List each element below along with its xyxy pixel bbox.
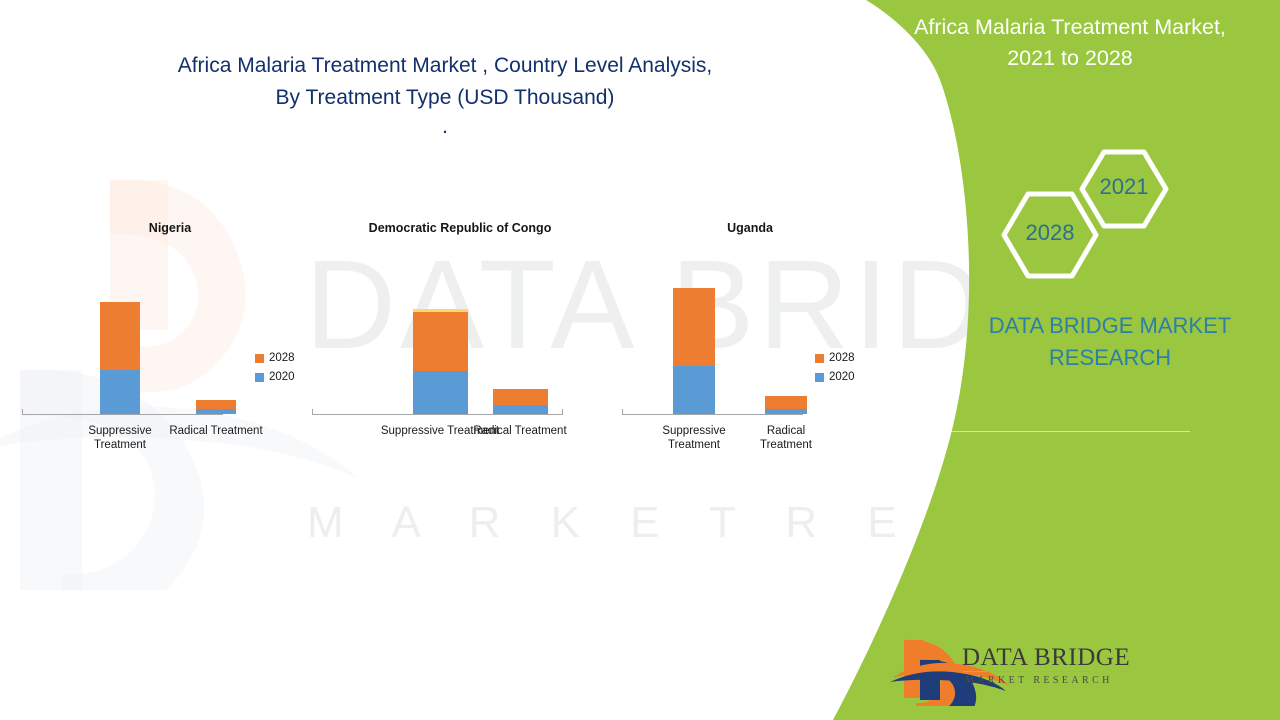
legend-label: 2020 — [269, 369, 295, 386]
bar-column — [196, 400, 236, 414]
bar-segment-2028 — [673, 288, 715, 367]
bar-segment-2028 — [493, 389, 548, 405]
plot-area: Suppressive TreatmentRadical Treatment — [310, 250, 610, 445]
category-label: Suppressive Treatment — [70, 424, 170, 452]
bar-segment-2020 — [765, 409, 807, 414]
bar-segment-2028 — [765, 396, 807, 409]
chart-panel-uganda: Uganda Suppressive TreatmentRadical Trea… — [600, 220, 900, 445]
panel-title-line2: 2021 to 2028 — [880, 43, 1260, 74]
bar-column — [673, 288, 715, 414]
logo-wordmark: DATA BRIDGE — [962, 644, 1130, 672]
chart-title: Democratic Republic of Congo — [340, 220, 580, 236]
panel-title: Africa Malaria Treatment Market, 2021 to… — [880, 12, 1260, 74]
chart-title: Uganda — [600, 220, 900, 236]
legend-label: 2020 — [829, 369, 855, 386]
bar-segment-2020 — [673, 366, 715, 414]
bar-segment-2020 — [413, 371, 468, 414]
logo-subwordmark: MARKET RESEARCH — [965, 675, 1113, 686]
infographic-canvas: DATA BRIDGE M A R K E T R E S E A R C H … — [0, 0, 1280, 720]
plot-area: Suppressive TreatmentRadical Treatment20… — [20, 250, 320, 445]
bar-segment-2028 — [100, 302, 140, 370]
hexagon-2021: 2021 — [1078, 148, 1170, 230]
bar-column — [493, 389, 548, 415]
legend-swatch-icon — [255, 373, 264, 382]
x-axis-tick — [312, 409, 313, 415]
bar-segment-2020 — [100, 370, 140, 414]
chart-panel-drcongo: Democratic Republic of Congo Suppressive… — [310, 220, 610, 445]
x-axis-tick — [622, 409, 623, 415]
chart-title: Nigeria — [20, 220, 320, 236]
bar-column — [100, 302, 140, 414]
bar-segment-2028 — [196, 400, 236, 409]
logo-rule — [963, 671, 1090, 672]
bar-column — [765, 396, 807, 414]
main-title-line2: By Treatment Type (USD Thousand) — [95, 82, 795, 114]
legend-label: 2028 — [829, 350, 855, 367]
category-label: Radical Treatment — [740, 424, 832, 452]
bar-segment-2028 — [413, 312, 468, 371]
main-title-line1: Africa Malaria Treatment Market , Countr… — [95, 50, 795, 82]
legend-swatch-icon — [815, 373, 824, 382]
category-label: Radical Treatment — [166, 424, 266, 438]
panel-title-line1: Africa Malaria Treatment Market, — [880, 12, 1260, 43]
hexagon-2021-label: 2021 — [1078, 174, 1170, 200]
legend-swatch-icon — [255, 354, 264, 363]
brand-divider — [900, 431, 1190, 432]
brand-name-line2: RESEARCH — [950, 342, 1270, 374]
bar-segment-2020 — [493, 405, 548, 414]
brand-name: DATA BRIDGE MARKET RESEARCH — [950, 310, 1270, 374]
main-chart-title: Africa Malaria Treatment Market , Countr… — [95, 50, 795, 114]
x-axis-tick — [22, 409, 23, 415]
chart-panel-nigeria: Nigeria Suppressive TreatmentRadical Tre… — [20, 220, 320, 445]
bar-segment-extra — [413, 309, 468, 312]
legend-label: 2028 — [269, 350, 295, 367]
brand-name-line1: DATA BRIDGE MARKET — [950, 310, 1270, 342]
x-axis-tick — [562, 409, 563, 415]
bar-segment-2020 — [196, 409, 236, 414]
bar-column — [413, 309, 468, 414]
main-title-trailing-dot: . — [95, 115, 795, 139]
category-label: Suppressive Treatment — [648, 424, 740, 452]
category-label: Radical Treatment — [450, 424, 590, 438]
plot-area: Suppressive TreatmentRadical Treatment20… — [600, 250, 900, 445]
legend-swatch-icon — [815, 354, 824, 363]
